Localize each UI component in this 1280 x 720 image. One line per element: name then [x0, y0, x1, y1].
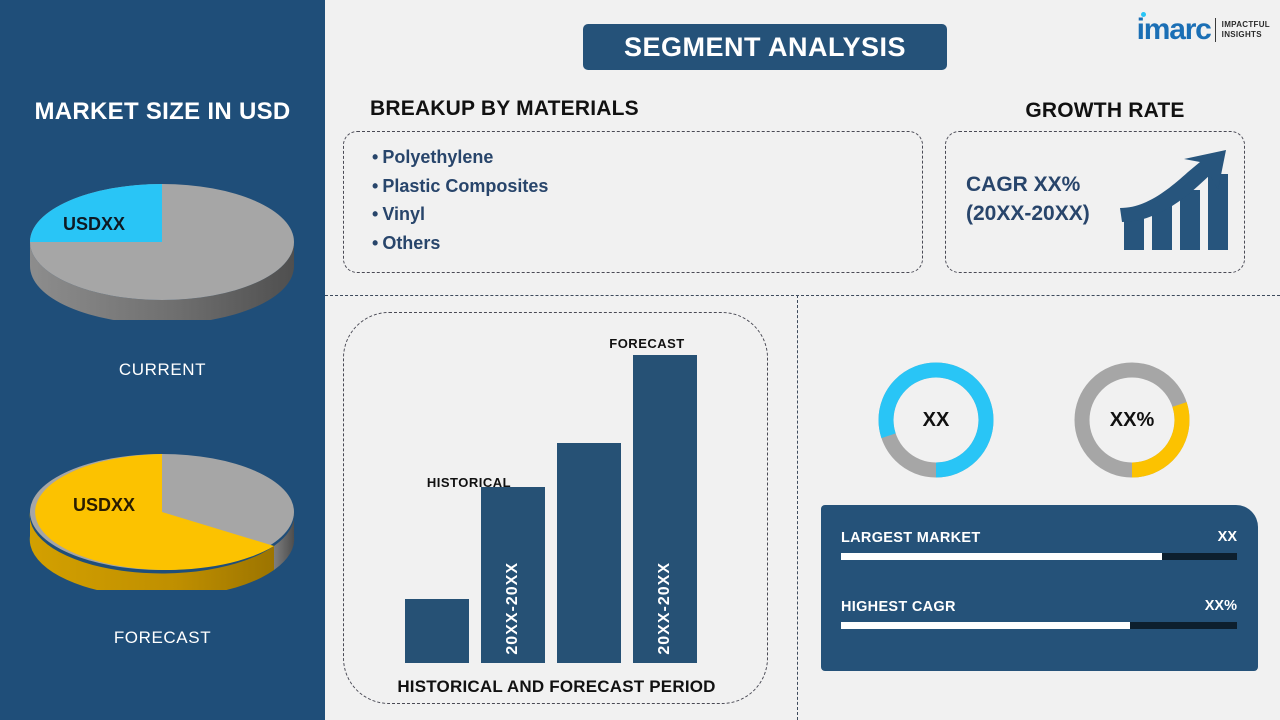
historical-forecast-chart: HISTORICAL 20XX-20XX FORECAST 20XX-20XX … — [343, 312, 768, 704]
stat-progress-track — [841, 553, 1237, 560]
cagr-value: CAGR XX% — [966, 170, 1090, 199]
materials-box: •Polyethylene •Plastic Composites •Vinyl… — [343, 131, 923, 273]
infographic-root: MARKET SIZE IN USD USDXX CU — [0, 0, 1280, 720]
stat-progress-track — [841, 622, 1237, 629]
donut-1-center-label: XX — [874, 358, 998, 482]
growth-rate-section-title: GROWTH RATE — [945, 99, 1265, 123]
cagr-period: (20XX-20XX) — [966, 199, 1090, 228]
forecast-pie-slice-label: USDXX — [73, 495, 135, 516]
list-item: •Plastic Composites — [372, 172, 548, 201]
bullet-icon: • — [372, 147, 378, 167]
material-label: Others — [382, 233, 440, 253]
materials-list: •Polyethylene •Plastic Composites •Vinyl… — [372, 143, 548, 257]
vertical-divider — [797, 295, 798, 720]
current-pie-svg — [27, 170, 297, 320]
current-pie-slice-label: USDXX — [63, 214, 125, 235]
growth-rate-box: CAGR XX% (20XX-20XX) — [945, 131, 1245, 273]
forecast-pie-caption: FORECAST — [0, 628, 325, 648]
logo-tagline: IMPACTFUL INSIGHTS — [1222, 20, 1270, 40]
list-item: •Others — [372, 229, 548, 258]
stat-value: XX% — [1205, 598, 1237, 614]
stat-value: XX — [1218, 529, 1237, 545]
market-size-panel: MARKET SIZE IN USD USDXX CU — [0, 0, 325, 720]
stat-label: HIGHEST CAGR — [841, 599, 956, 615]
cagr-text: CAGR XX% (20XX-20XX) — [966, 170, 1090, 228]
donut-chart-2: XX% — [1070, 358, 1194, 482]
forecast-pie-svg — [27, 440, 297, 590]
logo-tagline-line1: IMPACTFUL — [1222, 20, 1270, 30]
stat-progress-fill — [841, 553, 1162, 560]
market-size-title: MARKET SIZE IN USD — [0, 98, 325, 126]
segment-analysis-content: SEGMENT ANALYSIS imarc IMPACTFUL INSIGHT… — [325, 0, 1280, 720]
bar-2: 20XX-20XX — [481, 487, 545, 663]
stat-row-highest-cagr: HIGHEST CAGR XX% — [841, 598, 1237, 629]
stat-progress-fill — [841, 622, 1130, 629]
horizontal-divider — [325, 295, 1280, 296]
barchart-caption: HISTORICAL AND FORECAST PERIOD — [344, 677, 769, 697]
logo-divider — [1215, 18, 1216, 42]
current-pie-caption: CURRENT — [0, 360, 325, 380]
forecast-pie-chart: USDXX — [27, 440, 297, 590]
key-stats-panel: LARGEST MARKET XX HIGHEST CAGR XX% — [821, 505, 1258, 671]
page-title: SEGMENT ANALYSIS — [583, 24, 947, 70]
bar-1 — [405, 599, 469, 663]
logo-wordmark: imarc — [1137, 15, 1211, 45]
bullet-icon: • — [372, 233, 378, 253]
current-pie-chart: USDXX — [27, 170, 297, 320]
bullet-icon: • — [372, 176, 378, 196]
donut-chart-1: XX — [874, 358, 998, 482]
bar-2-period-label: 20XX-20XX — [504, 562, 522, 655]
bullet-icon: • — [372, 204, 378, 224]
materials-section-title: BREAKUP BY MATERIALS — [370, 97, 639, 121]
stat-label: LARGEST MARKET — [841, 530, 981, 546]
imarc-logo: imarc IMPACTFUL INSIGHTS — [1137, 12, 1270, 48]
bar-4: 20XX-20XX — [633, 355, 697, 663]
material-label: Vinyl — [382, 204, 425, 224]
logo-tagline-line2: INSIGHTS — [1222, 30, 1270, 40]
list-item: •Vinyl — [372, 200, 548, 229]
bar-4-period-label: 20XX-20XX — [656, 562, 674, 655]
logo-dot-icon — [1141, 12, 1146, 17]
donut-2-center-label: XX% — [1070, 358, 1194, 482]
growth-arrow-chart-icon — [1120, 150, 1232, 259]
bar-4-top-label: FORECAST — [577, 336, 717, 351]
list-item: •Polyethylene — [372, 143, 548, 172]
bar-3 — [557, 443, 621, 663]
material-label: Plastic Composites — [382, 176, 548, 196]
stat-row-largest-market: LARGEST MARKET XX — [841, 529, 1237, 560]
logo-wordmark-text: imarc — [1137, 13, 1211, 46]
material-label: Polyethylene — [382, 147, 493, 167]
